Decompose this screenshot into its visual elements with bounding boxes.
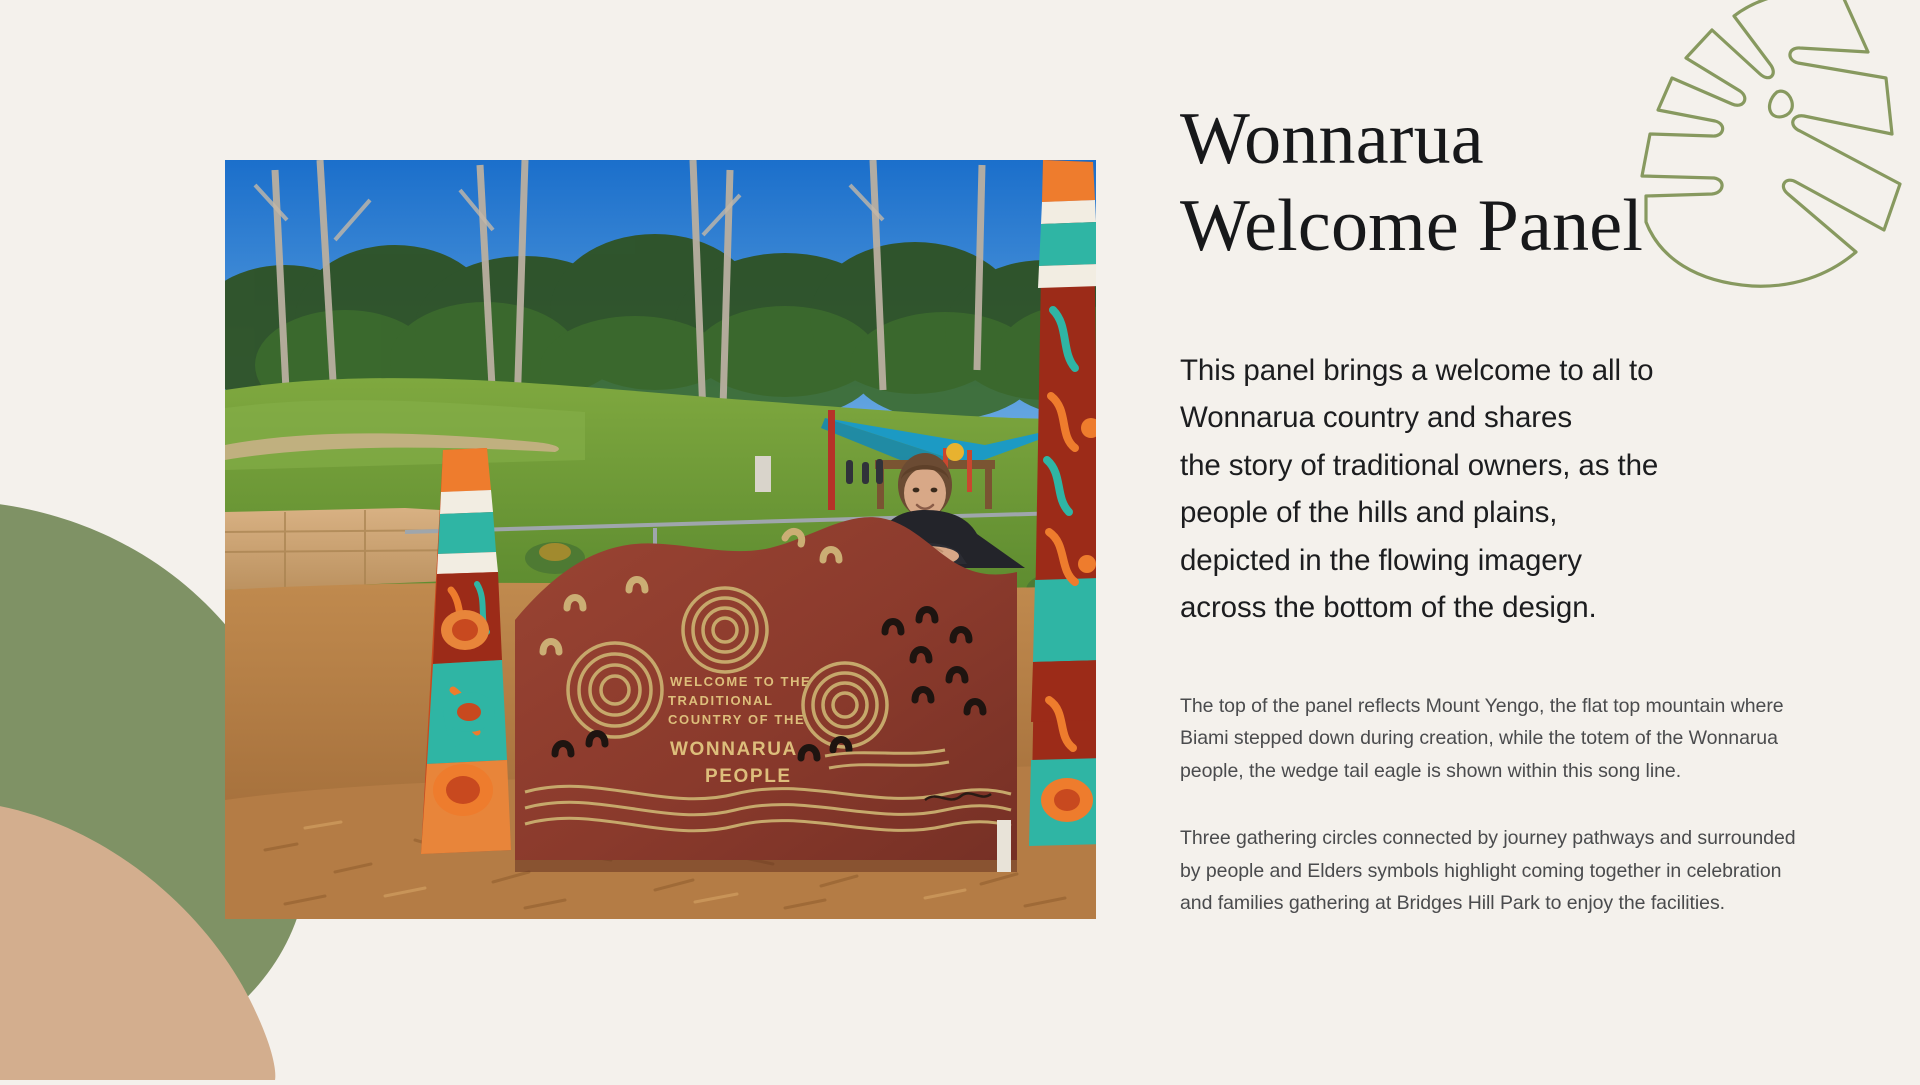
svg-text:WELCOME TO THE: WELCOME TO THE (670, 674, 811, 689)
content-column: Wonnarua Welcome Panel This panel brings… (1180, 96, 1800, 920)
wonnarua-welcome-panel-photo: WELCOME TO THE TRADITIONAL COUNTRY OF TH… (225, 160, 1096, 919)
svg-text:WONNARUA: WONNARUA (670, 739, 798, 760)
svg-text:PEOPLE: PEOPLE (705, 766, 792, 787)
paragraph-gathering-circles: Three gathering circles connected by jou… (1180, 822, 1800, 920)
lead-paragraph: This panel brings a welcome to all to Wo… (1180, 347, 1800, 632)
page-title: Wonnarua Welcome Panel (1180, 96, 1800, 271)
svg-text:COUNTRY OF THE: COUNTRY OF THE (668, 712, 805, 727)
corten-welcome-panel: WELCOME TO THE TRADITIONAL COUNTRY OF TH… (515, 517, 1017, 860)
paragraph-mount-yengo: The top of the panel reflects Mount Yeng… (1180, 690, 1800, 788)
svg-text:TRADITIONAL: TRADITIONAL (668, 693, 774, 708)
